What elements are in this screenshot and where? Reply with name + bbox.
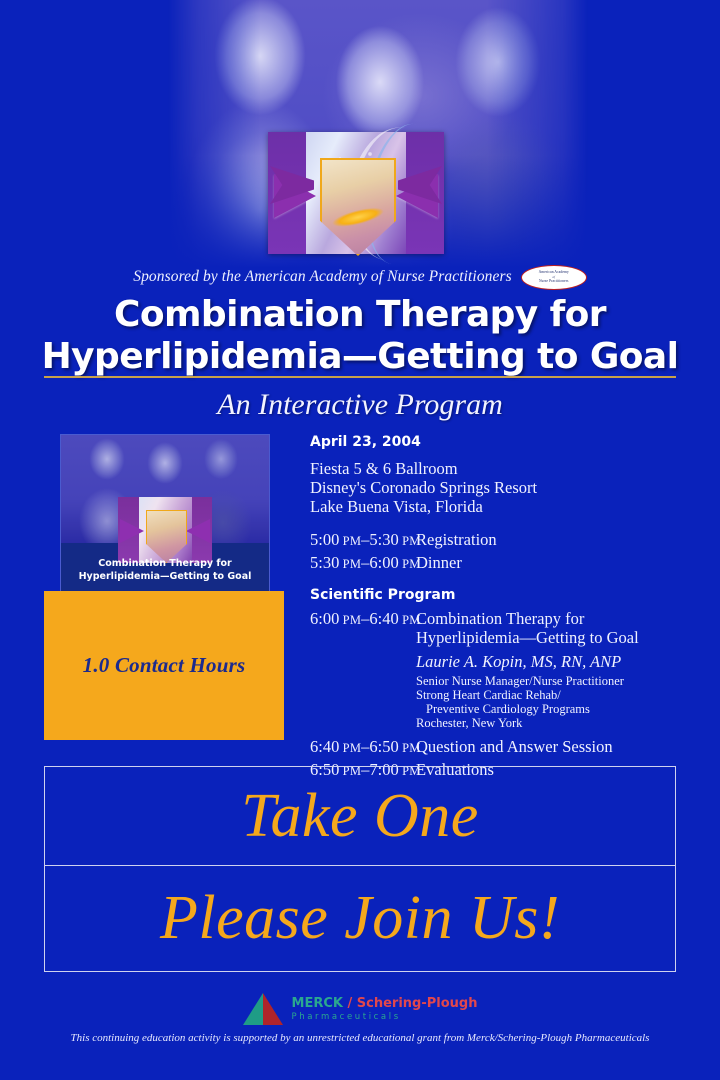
venue-line: Fiesta 5 & 6 Ballroom [310,459,690,478]
poster-title-line1: Combination Therapy for [114,294,606,335]
take-one-label: Take One [241,781,479,852]
poster-footer: MERCK / Schering-Plough Pharmaceuticals … [0,992,720,1044]
join-us-box: Please Join Us! [45,866,675,970]
speaker-name: Laurie A. Kopin, MS, RN, ANP [416,652,639,672]
merck-schering-plough-logo: MERCK / Schering-Plough Pharmaceuticals [243,992,478,1026]
venue-line: Lake Buena Vista, Florida [310,497,690,516]
merck-triangle-teal-icon [243,993,263,1025]
speaker-affiliation: Senior Nurse Manager/Nurse Practitioner … [416,674,639,730]
aanp-logo-line3: Nurse Practitioners [539,279,569,284]
join-us-label: Please Join Us! [160,883,560,954]
merck-triangle-icon [243,993,285,1025]
take-one-box: Take One [45,767,675,866]
aanp-logo-icon: American Academy of Nurse Practitioners [521,265,587,290]
brochure-thumbnail: Combination Therapy for Hyperlipidemia—G… [60,434,270,596]
merck-tagline: Pharmaceuticals [292,1011,478,1023]
session-title-line2: Hyperlipidemia—Getting to Goal [416,628,639,647]
merck-triangle-red-icon [263,993,283,1025]
merck-brand2: Schering-Plough [357,996,478,1011]
thumbnail-arrow-left-icon [120,519,144,543]
merck-slash: / [343,996,357,1011]
schedule-time: 5:00 PM–5:30 PM [310,530,416,550]
thumbnail-caption: Combination Therapy for Hyperlipidemia—G… [61,557,269,583]
contact-hours-label: 1.0 Contact Hours [83,653,246,678]
grant-disclaimer: This continuing education activity is su… [71,1032,650,1044]
call-to-action: Take One Please Join Us! [44,766,676,972]
event-poster: Sponsored by the American Academy of Nur… [0,0,720,1080]
scientific-program-heading: Scientific Program [310,587,690,603]
thumbnail-caption-line2: Hyperlipidemia—Getting to Goal [61,570,269,583]
session-row: 6:00 PM–6:40 PM Combination Therapy for … [310,609,690,730]
schedule-row: 5:30 PM–6:00 PM Dinner [310,553,690,573]
program-details: April 23, 2004 Fiesta 5 & 6 Ballroom Dis… [310,434,690,783]
session-details: Combination Therapy for Hyperlipidemia—G… [416,609,639,730]
affiliation-line: Preventive Cardiology Programs [416,702,639,716]
thumbnail-arrow-right-icon [186,519,210,543]
schedule-row: 5:00 PM–5:30 PM Registration [310,530,690,550]
poster-title-line2: Hyperlipidemia—Getting to Goal [0,336,720,378]
thumbnail-caption-line1: Combination Therapy for [61,557,269,570]
poster-subtitle: An Interactive Program [0,388,720,422]
affiliation-line: Rochester, New York [416,716,639,730]
artery-artwork-icon [268,132,444,254]
schedule-row: 6:40 PM–6:50 PM Question and Answer Sess… [310,737,690,757]
affiliation-line: Strong Heart Cardiac Rehab/ [416,688,639,702]
venue-line: Disney's Coronado Springs Resort [310,478,690,497]
schedule-label: Registration [416,530,497,549]
program-venue: Fiesta 5 & 6 Ballroom Disney's Coronado … [310,459,690,516]
poster-title: Combination Therapy for Hyperlipidemia—G… [0,294,720,378]
session-time: 6:00 PM–6:40 PM [310,609,416,629]
merck-brand-line: MERCK / Schering-Plough [292,996,478,1011]
sponsor-text: Sponsored by the American Academy of Nur… [133,268,512,286]
title-divider [44,376,676,378]
schedule-label: Dinner [416,553,462,572]
session-title-line1: Combination Therapy for [416,609,639,628]
contact-hours-box: 1.0 Contact Hours [44,591,284,740]
schedule-time: 6:40 PM–6:50 PM [310,737,416,757]
merck-brand1: MERCK [292,996,343,1011]
schedule-label: Question and Answer Session [416,737,613,756]
affiliation-line: Senior Nurse Manager/Nurse Practitioner [416,674,639,688]
thumbnail-artery-artwork-icon [118,497,212,563]
schedule-time: 5:30 PM–6:00 PM [310,553,416,573]
program-date: April 23, 2004 [310,434,690,450]
plaque-deposit-icon [326,197,392,237]
merck-wordmark: MERCK / Schering-Plough Pharmaceuticals [292,996,478,1023]
sponsor-row: Sponsored by the American Academy of Nur… [0,264,720,290]
